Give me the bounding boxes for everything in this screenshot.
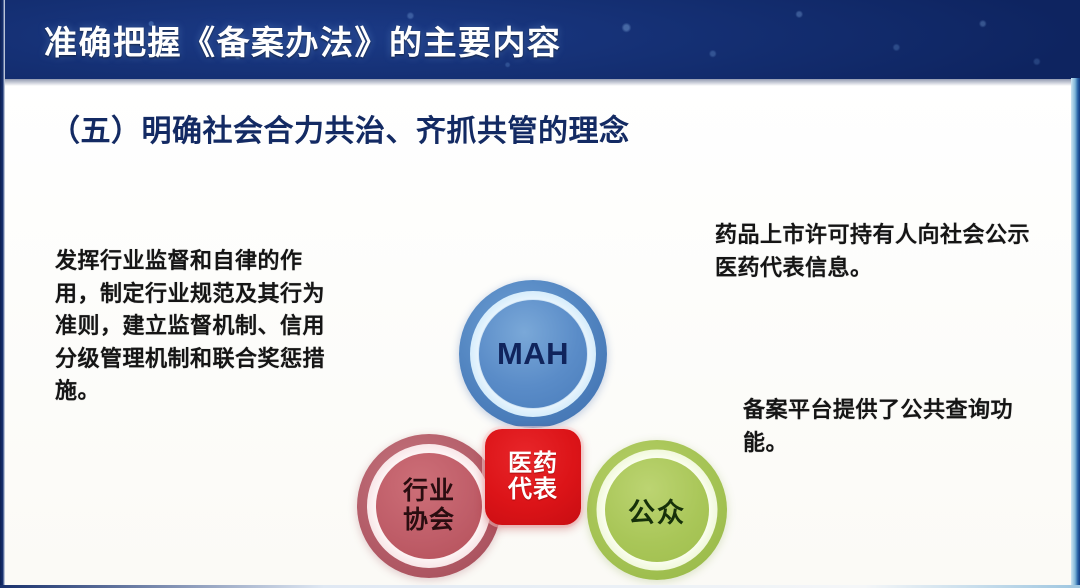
page-title: 准确把握《备案办法》的主要内容 <box>44 16 562 64</box>
diagram-node-mah: MAH <box>459 280 607 428</box>
section-subtitle: （五）明确社会合力共治、齐抓共管的理念 <box>50 106 630 150</box>
header-band-shadow <box>0 79 1080 86</box>
paragraph-right-top: 药品上市许可持有人向社会公示医药代表信息。 <box>715 219 1035 284</box>
association-inner-disc: 行业 协会 <box>376 453 482 559</box>
header-band: 准确把握《备案办法》的主要内容 <box>0 0 1080 79</box>
public-label: 公众 <box>628 491 686 530</box>
mah-outer-ring: MAH <box>459 280 607 428</box>
stakeholder-diagram: MAH 行业 协会 公众 <box>345 184 745 584</box>
public-inner-disc: 公众 <box>605 458 709 562</box>
paragraph-left: 发挥行业监督和自律的作用，制定行业规范及其行为准则，建立监督机制、信用分级管理机… <box>55 245 347 408</box>
center-label-line2: 代表 <box>508 477 558 503</box>
association-label-line1: 行业 <box>403 477 455 507</box>
right-frame-edge <box>1071 78 1080 588</box>
slide-content-area: （五）明确社会合力共治、齐抓共管的理念 发挥行业监督和自律的作用，制定行业规范及… <box>5 79 1071 585</box>
slide-canvas: （五）明确社会合力共治、齐抓共管的理念 发挥行业监督和自律的作用，制定行业规范及… <box>0 0 1080 588</box>
association-outer-ring: 行业 协会 <box>357 434 501 578</box>
center-label-line1: 医药 <box>508 451 558 477</box>
diagram-node-public: 公众 <box>587 440 727 580</box>
public-outer-ring: 公众 <box>587 440 727 580</box>
association-label-line2: 协会 <box>403 506 455 536</box>
center-label-wrap: 医药 代表 <box>508 451 558 504</box>
diagram-node-center-medical-rep: 医药 代表 <box>485 429 581 525</box>
diagram-node-association: 行业 协会 <box>357 434 501 578</box>
mah-inner-disc: MAH <box>479 300 587 408</box>
left-frame-edge <box>0 0 5 588</box>
mah-label: MAH <box>497 336 569 372</box>
paragraph-right-bottom: 备案平台提供了公共查询功能。 <box>743 394 1033 459</box>
